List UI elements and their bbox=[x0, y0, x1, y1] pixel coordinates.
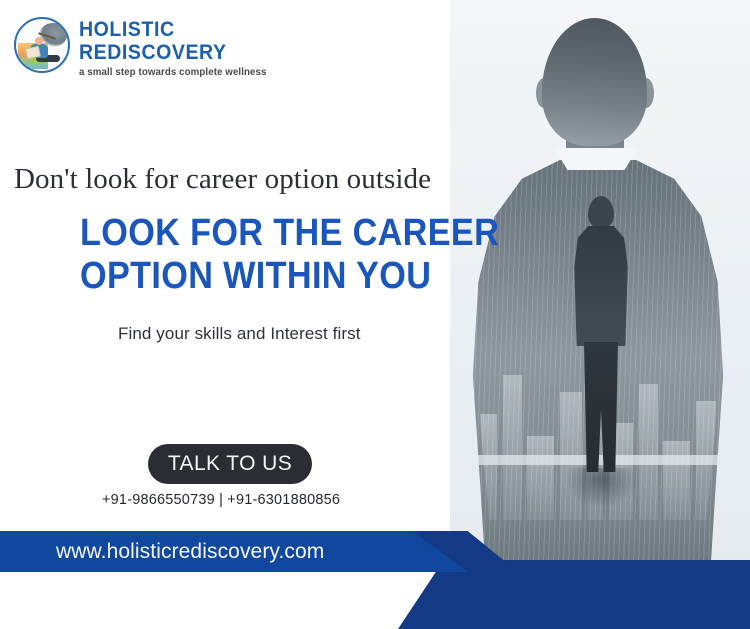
brand-name-line-1: HOLISTIC bbox=[79, 18, 259, 41]
talk-to-us-button[interactable]: TALK TO US bbox=[148, 444, 312, 484]
brand-tagline: a small step towards complete wellness bbox=[79, 67, 267, 78]
inner-businessman-shadow bbox=[564, 468, 640, 508]
brand-logo-text: HOLISTIC REDISCOVERY a small step toward… bbox=[79, 17, 272, 78]
headline-emphasis: LOOK FOR THE CAREER OPTION WITHIN YOU bbox=[80, 212, 499, 298]
inner-businessman bbox=[568, 196, 632, 496]
brand-logo[interactable]: HOLISTIC REDISCOVERY a small step toward… bbox=[14, 17, 272, 78]
website-url[interactable]: www.holisticrediscovery.com bbox=[56, 531, 324, 572]
inner-businessman-torso bbox=[572, 226, 630, 346]
subheadline: Find your skills and Interest first bbox=[118, 324, 361, 344]
hero-image bbox=[450, 0, 750, 629]
headline-emphasis-line-1: LOOK FOR THE CAREER bbox=[80, 212, 499, 255]
headline-emphasis-line-2: OPTION WITHIN YOU bbox=[80, 255, 499, 298]
person-reading-under-tree-icon bbox=[14, 17, 70, 73]
contact-phone-numbers[interactable]: +91-9866550739 | +91-6301880856 bbox=[102, 492, 340, 508]
businessman-collar bbox=[554, 148, 638, 170]
inner-businessman-head bbox=[588, 196, 614, 228]
headline-serif-line: Don't look for career option outside bbox=[14, 163, 431, 196]
promotional-banner: HOLISTIC REDISCOVERY a small step toward… bbox=[0, 0, 750, 629]
brand-name-line-2: REDISCOVERY bbox=[79, 41, 259, 64]
logo-person-head bbox=[35, 37, 43, 45]
background-bottom-white bbox=[0, 569, 470, 629]
inner-businessman-legs bbox=[584, 342, 618, 472]
